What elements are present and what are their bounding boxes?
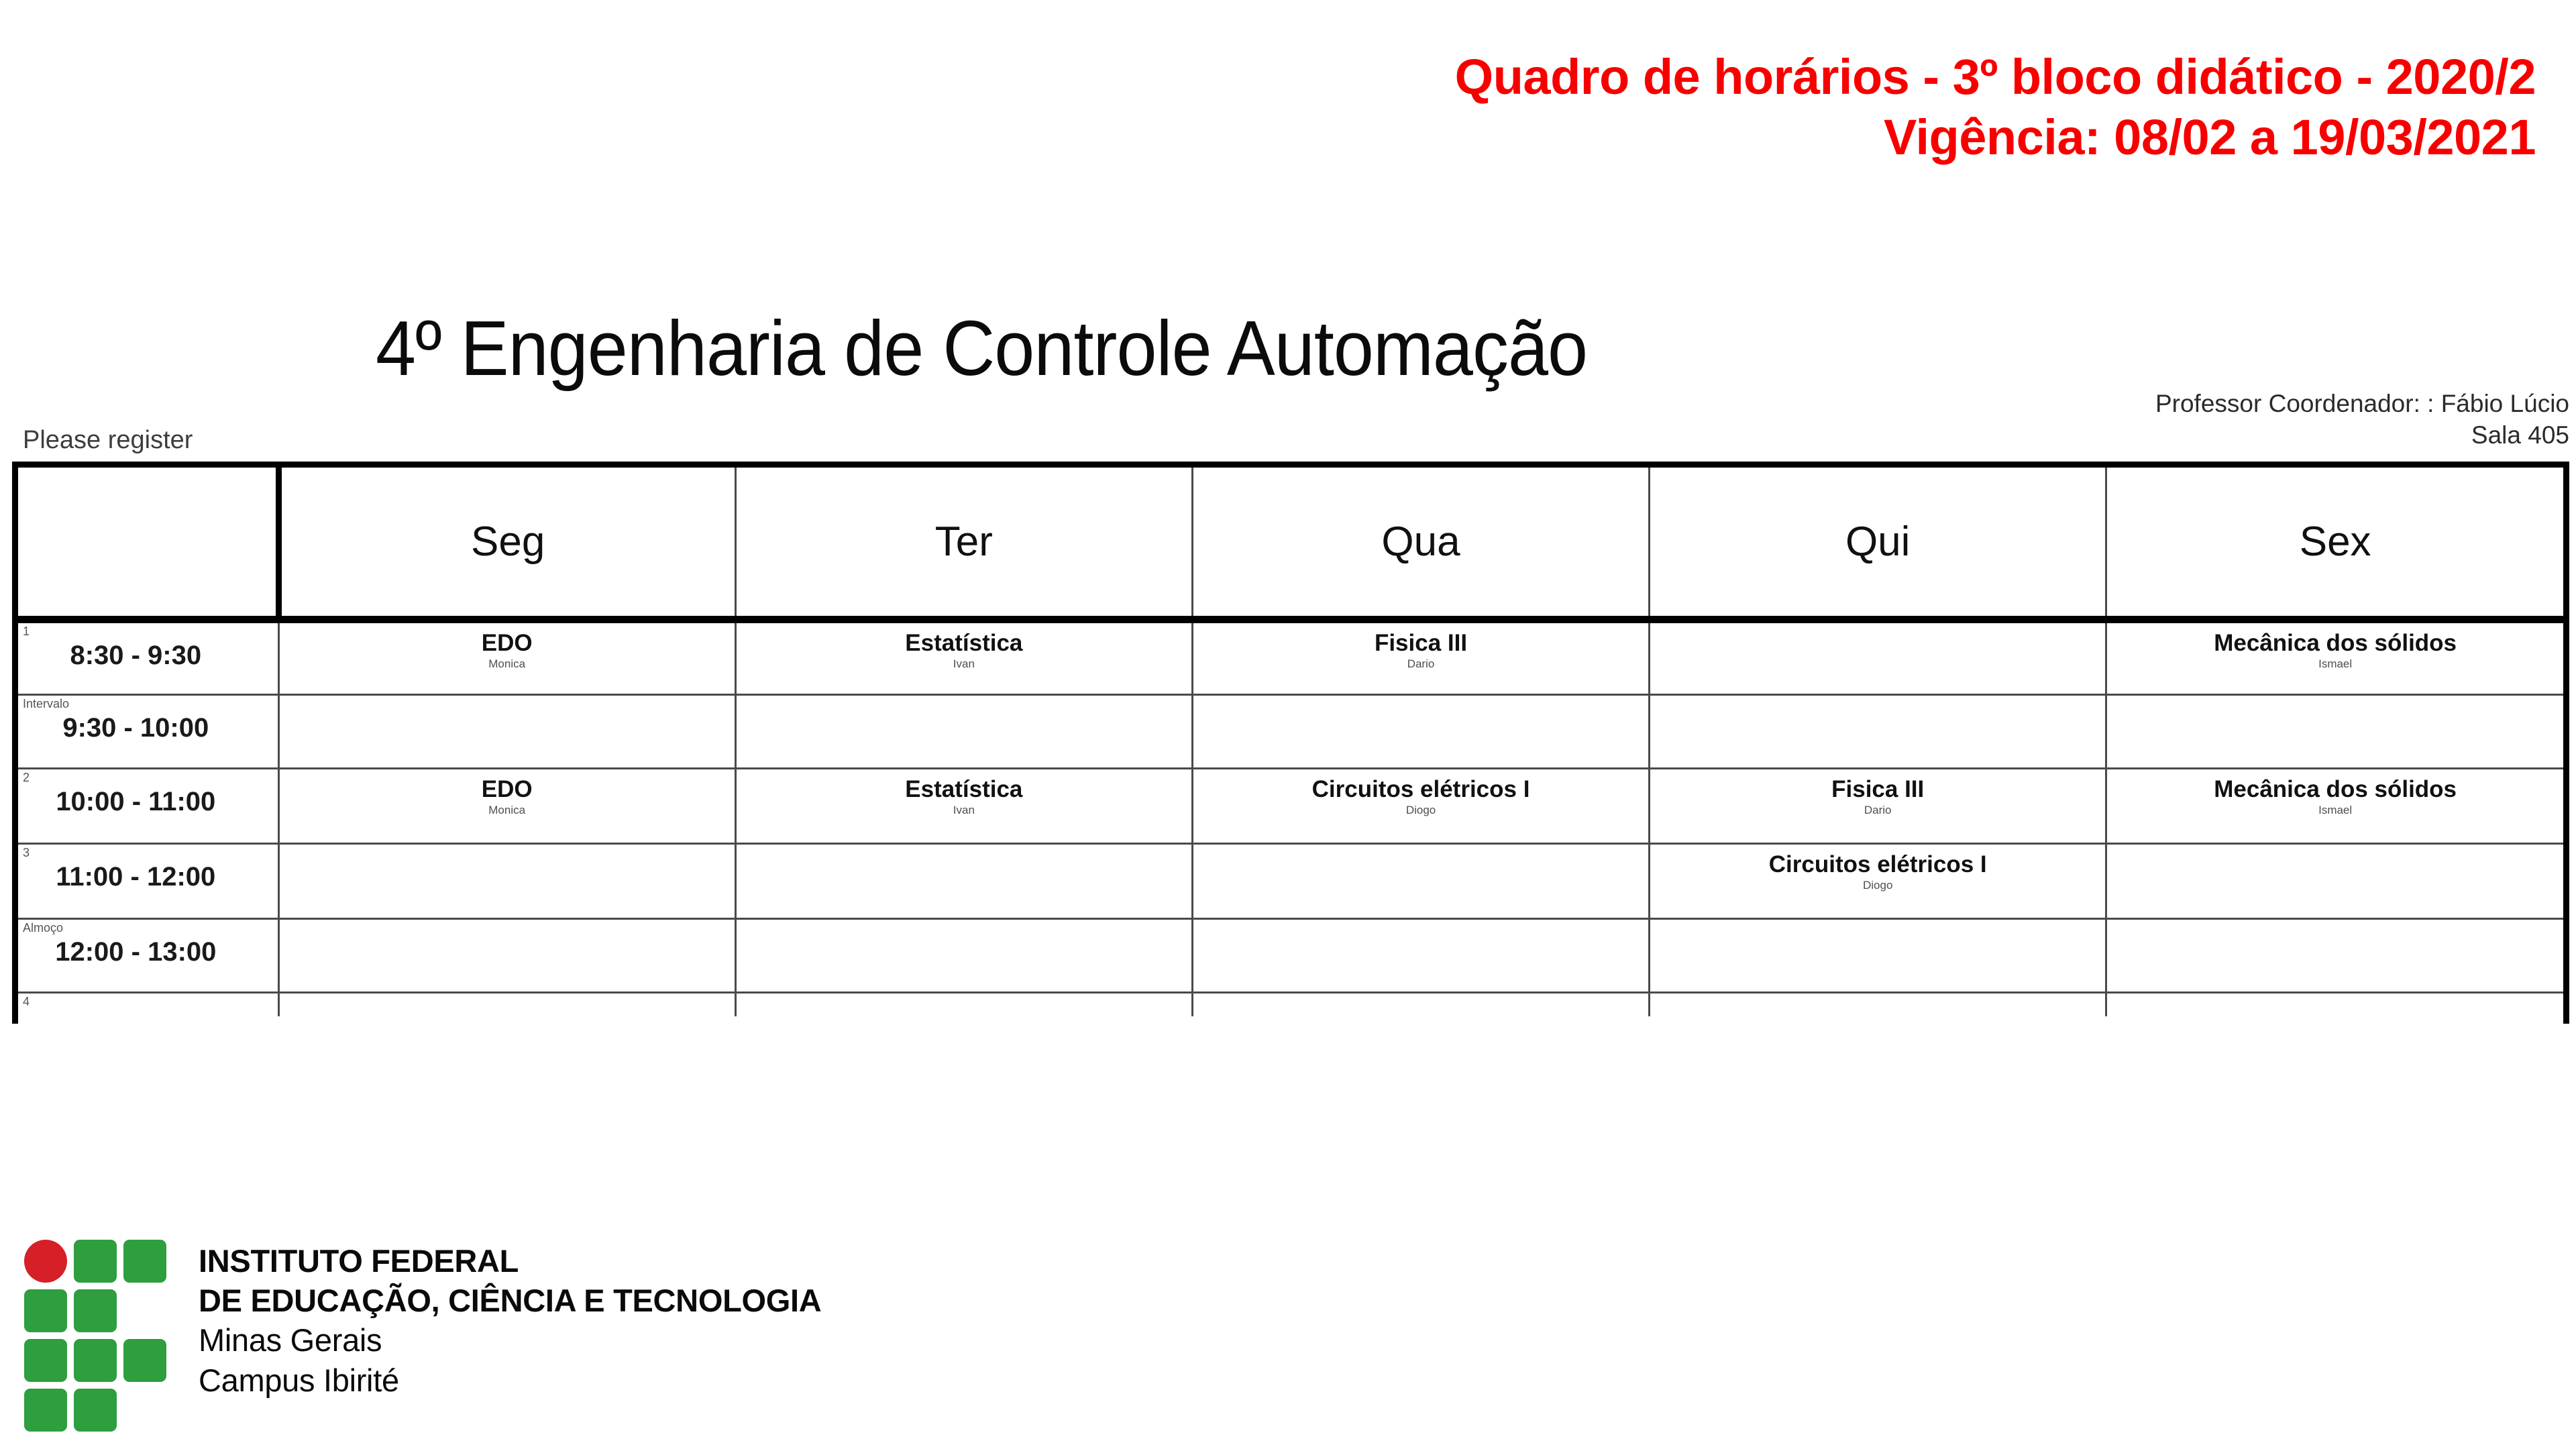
empty-slot (1193, 920, 1648, 991)
empty-slot (1650, 920, 2105, 991)
teacher-name: Ivan (737, 658, 1191, 671)
empty-cell (2106, 843, 2563, 918)
teacher-name: Ismael (2107, 804, 2563, 817)
empty-cell (1192, 992, 1649, 1016)
day-header-sex: Sex (2106, 468, 2563, 619)
logo-row-2 (24, 1289, 178, 1332)
logo-line-1: INSTITUTO FEDERAL (199, 1241, 821, 1281)
timetable-corner-cell (18, 468, 278, 619)
class-cell: Circuitos elétricos IDiogo (1650, 843, 2106, 918)
table-row: Almoço12:00 - 13:00 (18, 918, 2563, 992)
teacher-name: Dario (1650, 804, 2105, 817)
empty-cell (1650, 918, 2106, 992)
slot-tag: 3 (23, 847, 30, 859)
time-slot-cell: Almoço12:00 - 13:00 (18, 918, 278, 992)
subject-name: Circuitos elétricos I (1193, 769, 1648, 802)
teacher-name: Diogo (1650, 879, 2105, 892)
timetable-grid: SegTerQuaQuiSex18:30 - 9:30EDOMonicaEsta… (12, 462, 2569, 1024)
day-header-ter: Ter (735, 468, 1192, 619)
empty-cell (1192, 918, 1649, 992)
empty-slot (1650, 994, 2105, 1017)
green-square-icon (74, 1389, 117, 1432)
table-row: 210:00 - 11:00EDOMonicaEstatísticaIvanCi… (18, 768, 2563, 843)
green-square-icon (74, 1240, 117, 1283)
time-slot-cell: 311:00 - 12:00 (18, 843, 278, 918)
empty-slot (2107, 994, 2563, 1017)
empty-slot (737, 845, 1191, 918)
coordinator-block: Professor Coordenador: : Fábio Lúcio Sal… (2155, 388, 2569, 451)
table-row: Intervalo9:30 - 10:00 (18, 694, 2563, 768)
empty-slot (1193, 994, 1648, 1017)
timetable-header-row: SegTerQuaQuiSex (18, 468, 2563, 619)
slot-tag: 2 (23, 771, 30, 784)
ifmg-logo-mark (24, 1240, 178, 1432)
subject-name: Mecânica dos sólidos (2107, 769, 2563, 802)
slot-tag: 1 (23, 625, 30, 637)
logo-line-2: DE EDUCAÇÃO, CIÊNCIA E TECNOLOGIA (199, 1281, 821, 1320)
empty-slot (2107, 696, 2563, 767)
class-cell: EstatísticaIvan (735, 768, 1192, 843)
timetable-page: Quadro de horários - 3º bloco didático -… (0, 0, 2576, 1449)
empty-slot (1193, 696, 1648, 767)
empty-cell (735, 694, 1192, 768)
coordinator-name: Professor Coordenador: : Fábio Lúcio (2155, 388, 2569, 419)
empty-cell (1650, 992, 2106, 1016)
time-slot-cell: 18:30 - 9:30 (18, 619, 278, 694)
day-header-seg: Seg (278, 468, 735, 619)
document-banner: Quadro de horários - 3º bloco didático -… (0, 47, 2536, 168)
logo-row-4 (24, 1389, 178, 1432)
day-header-label: Qua (1381, 519, 1460, 565)
empty-cell (735, 843, 1192, 918)
empty-cell (278, 694, 735, 768)
empty-cell (735, 992, 1192, 1016)
logo-line-3: Minas Gerais (199, 1320, 821, 1360)
empty-cell (2106, 694, 2563, 768)
class-cell: EstatísticaIvan (735, 619, 1192, 694)
class-cell: EDOMonica (278, 619, 735, 694)
empty-slot (1650, 623, 2105, 694)
green-square-icon (123, 1240, 166, 1283)
teacher-name: Ivan (737, 804, 1191, 817)
table-row: 311:00 - 12:00Circuitos elétricos IDiogo (18, 843, 2563, 918)
course-title: 4º Engenharia de Controle Automação (376, 303, 1587, 393)
empty-cell (278, 843, 735, 918)
class-cell: Mecânica dos sólidosIsmael (2106, 768, 2563, 843)
subject-name: Fisica III (1193, 623, 1648, 656)
subject-name: Circuitos elétricos I (1650, 845, 2105, 877)
green-square-icon (24, 1339, 67, 1382)
green-square-icon (24, 1289, 67, 1332)
empty-slot (280, 845, 735, 918)
logo-row-1 (24, 1240, 178, 1283)
green-square-icon (24, 1389, 67, 1432)
teacher-name: Dario (1193, 658, 1648, 671)
empty-cell (1650, 619, 2106, 694)
slot-time-label: 11:00 - 12:00 (18, 845, 278, 892)
day-header-label: Ter (935, 519, 993, 565)
subject-name: EDO (280, 623, 735, 656)
empty-slot (737, 920, 1191, 991)
empty-cell (278, 918, 735, 992)
subject-name: EDO (280, 769, 735, 802)
subject-name: Fisica III (1650, 769, 2105, 802)
empty-cell (735, 918, 1192, 992)
empty-slot (2107, 845, 2563, 918)
day-header-label: Qui (1845, 519, 1910, 565)
empty-cell (2106, 992, 2563, 1016)
teacher-name: Ismael (2107, 658, 2563, 671)
slot-tag: Almoço (23, 922, 63, 934)
empty-slot (1193, 845, 1648, 918)
class-cell: Circuitos elétricos IDiogo (1192, 768, 1649, 843)
slot-tag: Intervalo (23, 698, 69, 710)
green-square-icon (123, 1339, 166, 1382)
subject-name: Mecânica dos sólidos (2107, 623, 2563, 656)
red-circle-icon (24, 1240, 67, 1283)
slot-time-label (18, 994, 278, 1011)
teacher-name: Diogo (1193, 804, 1648, 817)
ifmg-logo: INSTITUTO FEDERAL DE EDUCAÇÃO, CIÊNCIA E… (24, 1240, 821, 1432)
time-slot-cell: Intervalo9:30 - 10:00 (18, 694, 278, 768)
empty-cell (1192, 843, 1649, 918)
green-square-icon (74, 1339, 117, 1382)
empty-cell (278, 992, 735, 1016)
empty-slot (1650, 696, 2105, 767)
subject-name: Estatística (737, 623, 1191, 656)
teacher-name: Monica (280, 658, 735, 671)
empty-slot (280, 696, 735, 767)
teacher-name: Monica (280, 804, 735, 817)
empty-slot (737, 696, 1191, 767)
slot-tag: 4 (23, 996, 30, 1008)
slot-time-label: 10:00 - 11:00 (18, 769, 278, 817)
ifmg-logo-text: INSTITUTO FEDERAL DE EDUCAÇÃO, CIÊNCIA E… (199, 1240, 821, 1400)
class-cell: EDOMonica (278, 768, 735, 843)
empty-slot (2107, 920, 2563, 991)
empty-slot (280, 994, 735, 1017)
empty-slot (280, 920, 735, 991)
banner-line-1: Quadro de horários - 3º bloco didático -… (1455, 49, 2536, 105)
empty-slot (737, 994, 1191, 1017)
day-header-label: Sex (2300, 519, 2371, 565)
room-number: Sala 405 (2155, 419, 2569, 451)
time-slot-cell: 4 (18, 992, 278, 1016)
table-row: 18:30 - 9:30EDOMonicaEstatísticaIvanFisi… (18, 619, 2563, 694)
empty-cell (1650, 694, 2106, 768)
subject-name: Estatística (737, 769, 1191, 802)
logo-line-4: Campus Ibirité (199, 1360, 821, 1400)
empty-cell (2106, 918, 2563, 992)
table-row: 4 (18, 992, 2563, 1016)
please-register-note: Please register (23, 426, 193, 455)
day-header-qui: Qui (1650, 468, 2106, 619)
logo-row-3 (24, 1339, 178, 1382)
class-cell: Mecânica dos sólidosIsmael (2106, 619, 2563, 694)
day-header-label: Seg (471, 519, 545, 565)
empty-cell (1192, 694, 1649, 768)
banner-line-2: Vigência: 08/02 a 19/03/2021 (0, 107, 2536, 168)
class-cell: Fisica IIIDario (1650, 768, 2106, 843)
timetable-table: SegTerQuaQuiSex18:30 - 9:30EDOMonicaEsta… (18, 468, 2563, 1016)
time-slot-cell: 210:00 - 11:00 (18, 768, 278, 843)
class-cell: Fisica IIIDario (1192, 619, 1649, 694)
slot-time-label: 8:30 - 9:30 (18, 623, 278, 671)
green-square-icon (74, 1289, 117, 1332)
day-header-qua: Qua (1192, 468, 1649, 619)
